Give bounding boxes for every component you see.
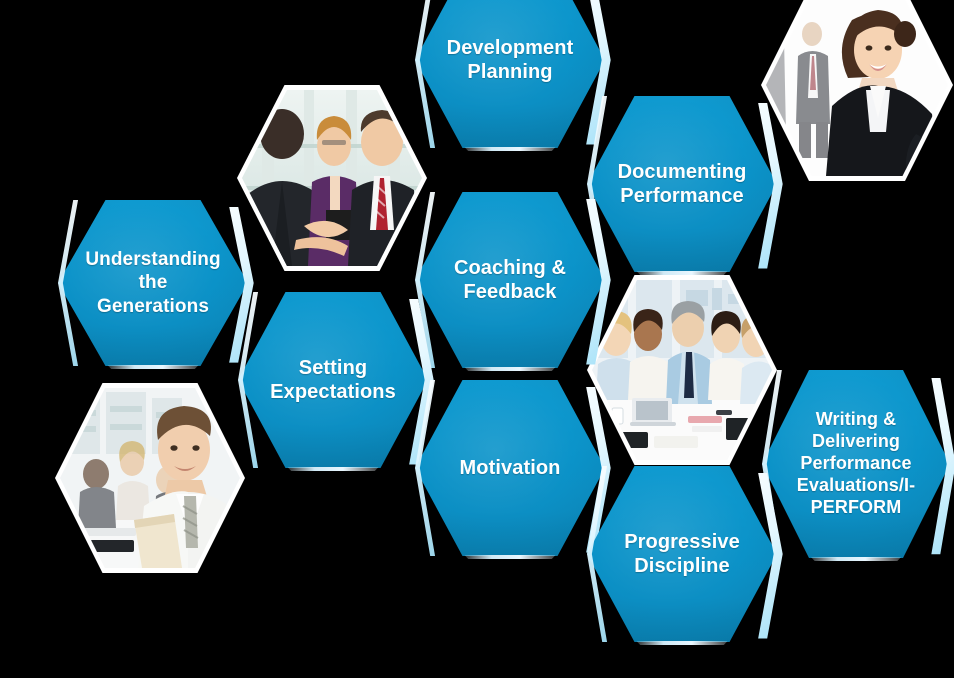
hexagon-documenting-performance[interactable]: Documenting Performance bbox=[587, 96, 777, 272]
hexagon-diagram-canvas: Development PlanningDocumenting Performa… bbox=[0, 0, 954, 678]
hexagon-label: Coaching & Feedback bbox=[415, 192, 605, 368]
hexagon-label: Motivation bbox=[415, 380, 605, 556]
hexagon-understanding-the-generations[interactable]: Understanding the Generations bbox=[58, 200, 248, 366]
hexagon-coaching-feedback[interactable]: Coaching & Feedback bbox=[415, 192, 605, 368]
interview-handshake-photo bbox=[242, 90, 422, 266]
team-meeting-photo bbox=[592, 280, 772, 460]
smiling-businesswoman-photo bbox=[766, 0, 948, 176]
hexagon-label: Documenting Performance bbox=[587, 96, 777, 272]
hexagon-motivation[interactable]: Motivation bbox=[415, 380, 605, 556]
hexagon-label: Understanding the Generations bbox=[58, 200, 248, 366]
hexagon-label: Writing & Delivering Performance Evaluat… bbox=[762, 370, 950, 558]
hexagon-setting-expectations[interactable]: Setting Expectations bbox=[238, 292, 428, 468]
manager-with-folder-photo bbox=[60, 388, 240, 568]
hexagon-label: Setting Expectations bbox=[238, 292, 428, 468]
hexagon-label: Development Planning bbox=[415, 0, 605, 148]
hexagon-progressive-discipline[interactable]: Progressive Discipline bbox=[587, 466, 777, 642]
hexagon-development-planning[interactable]: Development Planning bbox=[415, 0, 605, 148]
hexagon-label: Progressive Discipline bbox=[587, 466, 777, 642]
hexagon-writing-delivering-performance-evaluations[interactable]: Writing & Delivering Performance Evaluat… bbox=[762, 370, 950, 558]
